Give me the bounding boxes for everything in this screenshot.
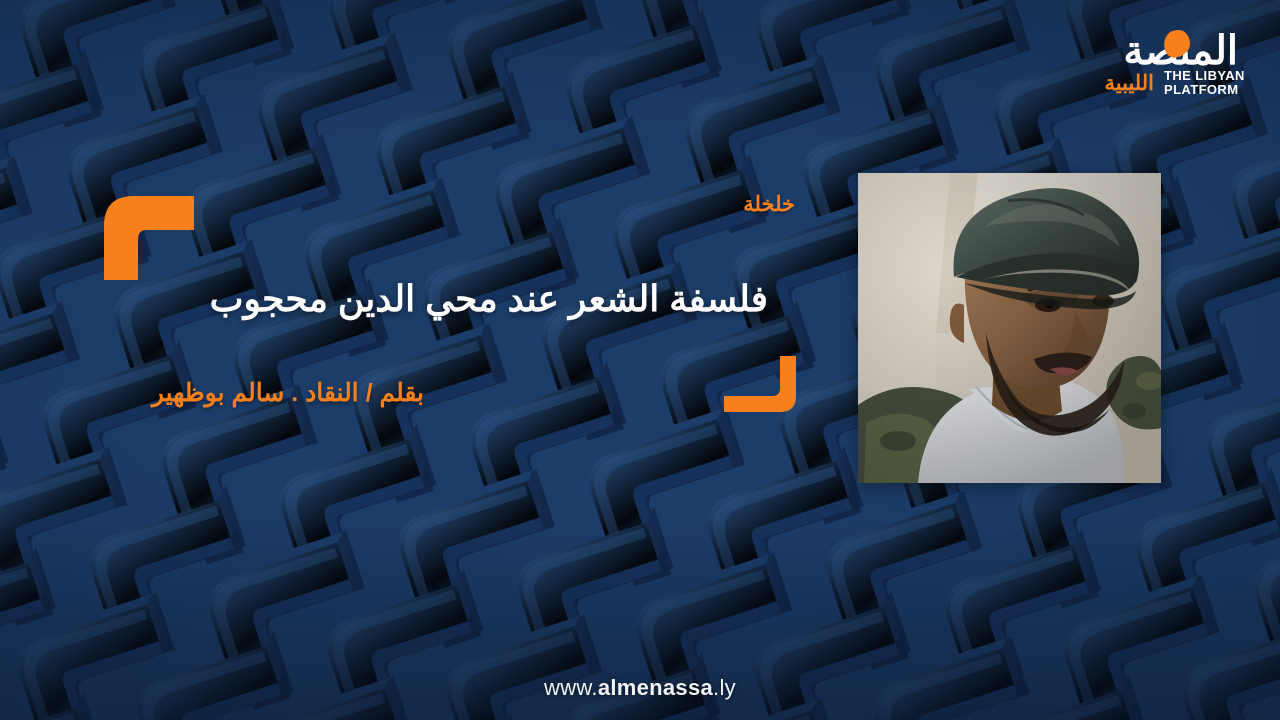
logo-latin-line2: PLATFORM	[1164, 82, 1238, 97]
logo-latin-line1: THE LIBYAN	[1164, 68, 1244, 83]
portrait-illustration	[858, 173, 1161, 483]
site-logo[interactable]: المنصة الليبية THE LIBYAN PLATFORM	[1032, 22, 1244, 98]
page-title: فلسفة الشعر عند محي الدين محجوب	[128, 277, 768, 322]
url-prefix: www.	[544, 675, 598, 700]
social-card: المنصة الليبية THE LIBYAN PLATFORM خلخلة…	[0, 0, 1280, 720]
logo-arabic-sub: الليبية	[1105, 72, 1154, 95]
corner-bracket-top-left-icon	[104, 196, 194, 280]
category-label: خلخلة	[743, 192, 795, 217]
url-tld: .ly	[713, 675, 736, 700]
logo-artwork: المنصة الليبية THE LIBYAN PLATFORM	[1032, 22, 1244, 98]
url-name: almenassa	[598, 675, 713, 700]
footer-website-url[interactable]: www.almenassa.ly	[0, 675, 1280, 701]
corner-bracket-bottom-right-icon	[724, 356, 796, 412]
portrait-photo	[858, 173, 1161, 483]
byline-author: بقلم / النقاد . سالم بوظهير	[152, 378, 424, 408]
